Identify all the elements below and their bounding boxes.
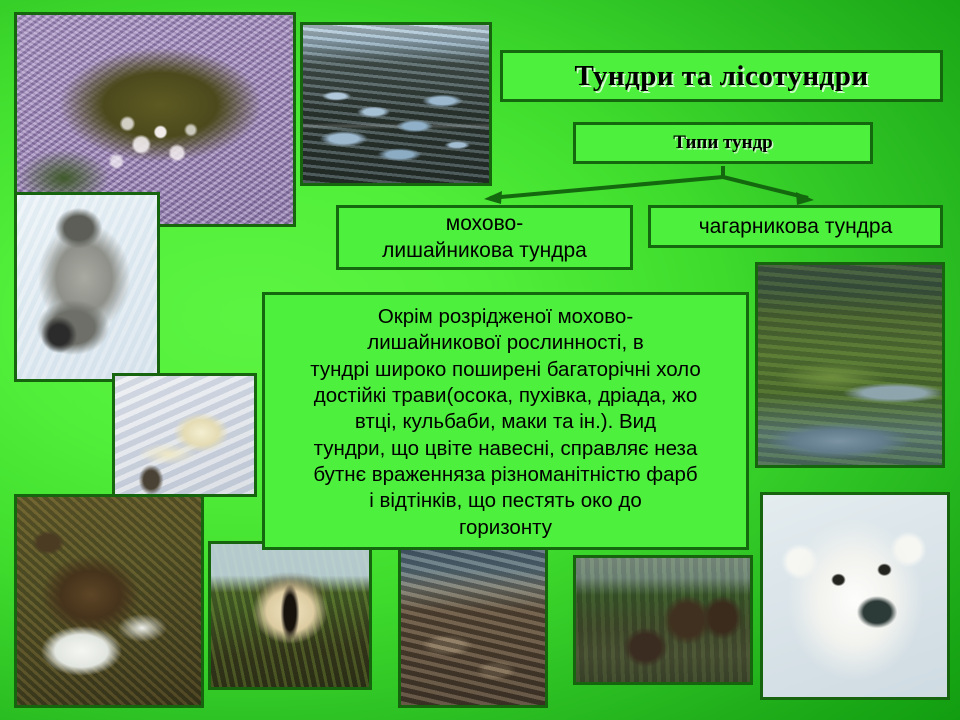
photo-tundra-lakes-aerial-image	[303, 25, 489, 183]
arrow-head-right-icon	[796, 192, 814, 205]
slide-canvas: Тундри та лісотундри Типи тундр мохово- …	[0, 0, 960, 720]
photo-seal-on-snow[interactable]	[14, 192, 160, 382]
arrow-head-left-icon	[484, 191, 502, 204]
photo-polar-bear[interactable]	[760, 492, 950, 700]
photo-seal-on-snow-image	[17, 195, 157, 379]
photo-polar-bear-image	[763, 495, 947, 697]
photo-lemming-image	[211, 544, 369, 687]
type-box-moss-lichen-tundra: мохово- лишайникова тундра	[336, 205, 633, 270]
page-title: Тундри та лісотундри	[500, 50, 943, 102]
photo-ptarmigan[interactable]	[14, 494, 204, 708]
arrow-to-shrub	[723, 177, 808, 198]
photo-ptarmigan-image	[17, 497, 201, 705]
photo-arctic-fox[interactable]	[112, 373, 257, 497]
body-text-block: Окрім розрідженої мохово- лишайникової р…	[262, 292, 749, 550]
photo-reindeer-herd-image	[576, 558, 750, 682]
photo-reindeer-herd[interactable]	[573, 555, 753, 685]
photo-arctic-fox-image	[115, 376, 254, 494]
subtitle-types-of-tundra: Типи тундр	[573, 122, 873, 164]
photo-walrus-rookery-image	[401, 548, 545, 705]
photo-walrus-rookery[interactable]	[398, 545, 548, 708]
photo-tundra-river-landscape-image	[758, 265, 942, 465]
arrow-to-moss-lichen	[490, 177, 723, 198]
photo-tundra-lakes-aerial[interactable]	[300, 22, 492, 186]
type-box-shrub-tundra: чагарникова тундра	[648, 205, 943, 248]
photo-tundra-river-landscape[interactable]	[755, 262, 945, 468]
photo-lemming[interactable]	[208, 541, 372, 690]
